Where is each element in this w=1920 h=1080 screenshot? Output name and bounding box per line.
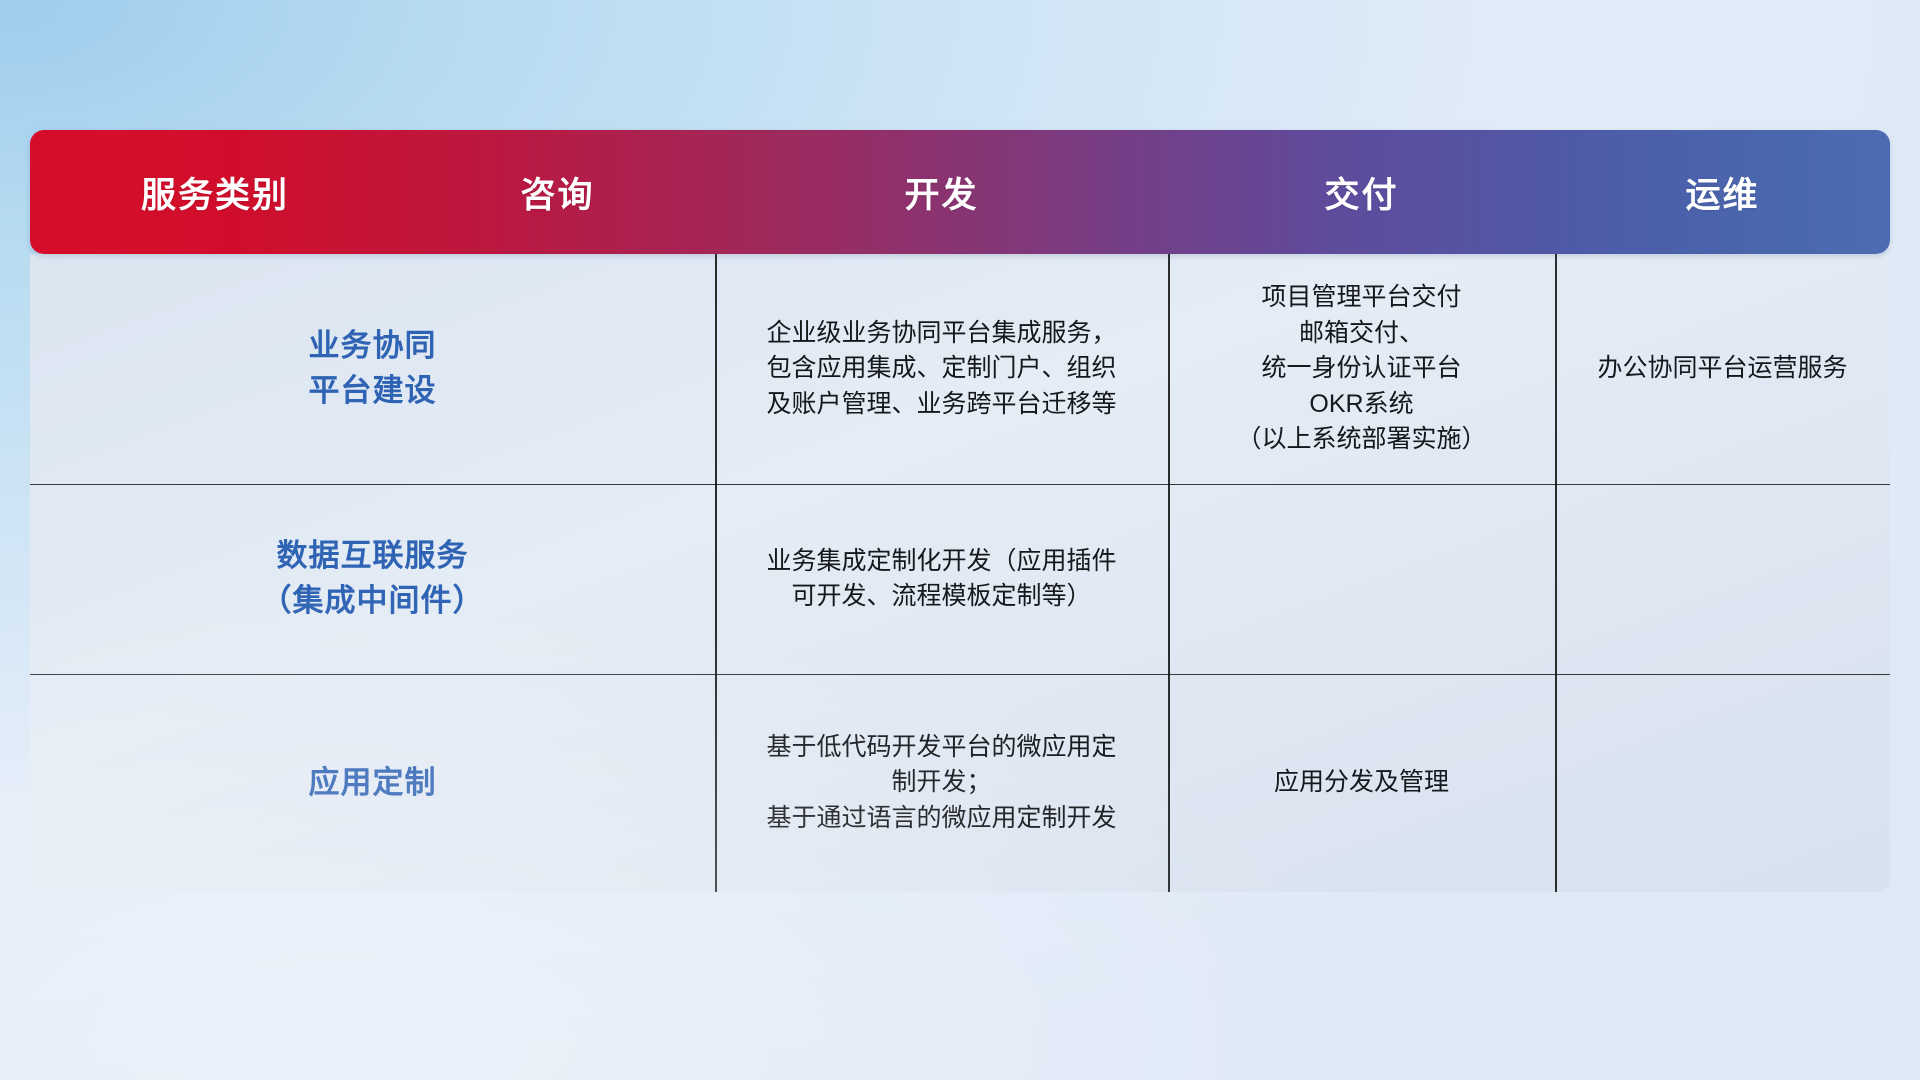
cell-delivery-row3: 应用分发及管理 (1168, 674, 1555, 892)
cell-text: 项目管理平台交付 邮箱交付、 统一身份认证平台 OKR系统 （以上系统部署实施） (1236, 280, 1486, 458)
cell-text: 业务集成定制化开发（应用插件 可开发、流程模板定制等） (766, 544, 1116, 615)
column-header-delivery-label: 交付 (1324, 167, 1398, 218)
column-header-operations-label: 运维 (1685, 167, 1759, 218)
table-row: 数据互联服务 （集成中间件） 业务集成定制化开发（应用插件 可开发、流程模板定制… (30, 484, 1890, 674)
cell-text: 企业级业务协同平台集成服务， 包含应用集成、定制门户、组织 及账户管理、业务跨平… (766, 316, 1116, 423)
cell-development-row2: 业务集成定制化开发（应用插件 可开发、流程模板定制等） (715, 484, 1168, 674)
cell-text: 基于低代码开发平台的微应用定 制开发； 基于通过语言的微应用定制开发 (766, 730, 1116, 837)
cell-operations-row1: 办公协同平台运营服务 (1555, 254, 1890, 484)
column-header-development: 开发 (715, 130, 1168, 254)
cell-category-row1: 业务协同 平台建设 (30, 254, 715, 484)
cell-operations-row2 (1555, 484, 1890, 674)
cell-development-row3: 基于低代码开发平台的微应用定 制开发； 基于通过语言的微应用定制开发 (715, 674, 1168, 892)
cell-category-row3: 应用定制 (30, 674, 715, 892)
table-header-row: 服务类别 咨询 开发 交付 运维 (30, 130, 1890, 254)
cell-development-row1: 企业级业务协同平台集成服务， 包含应用集成、定制门户、组织 及账户管理、业务跨平… (715, 254, 1168, 484)
slide-canvas: 服务类别 咨询 开发 交付 运维 业务协同 平台建设 (0, 0, 1920, 1080)
cell-text: 数据互联服务 （集成中间件） (261, 534, 485, 624)
table-row: 应用定制 基于低代码开发平台的微应用定 制开发； 基于通过语言的微应用定制开发 … (30, 674, 1890, 892)
cell-text: 应用定制 (309, 761, 437, 806)
cell-text: 办公协同平台运营服务 (1597, 351, 1847, 387)
column-header-category-label: 服务类别 (141, 167, 289, 218)
table-body: 业务协同 平台建设 企业级业务协同平台集成服务， 包含应用集成、定制门户、组织 … (30, 254, 1890, 892)
column-header-consulting: 咨询 (400, 130, 715, 254)
cell-delivery-row2 (1168, 484, 1555, 674)
column-header-category: 服务类别 (30, 130, 400, 254)
cell-text: 业务协同 平台建设 (309, 324, 437, 414)
column-header-development-label: 开发 (904, 167, 978, 218)
cell-category-row2: 数据互联服务 （集成中间件） (30, 484, 715, 674)
column-header-delivery: 交付 (1168, 130, 1555, 254)
cell-delivery-row1: 项目管理平台交付 邮箱交付、 统一身份认证平台 OKR系统 （以上系统部署实施） (1168, 254, 1555, 484)
column-header-consulting-label: 咨询 (520, 167, 594, 218)
cell-text: 应用分发及管理 (1274, 765, 1449, 801)
table-row: 业务协同 平台建设 企业级业务协同平台集成服务， 包含应用集成、定制门户、组织 … (30, 254, 1890, 484)
cell-operations-row3 (1555, 674, 1890, 892)
column-header-operations: 运维 (1555, 130, 1890, 254)
service-matrix-table: 服务类别 咨询 开发 交付 运维 业务协同 平台建设 (30, 130, 1890, 892)
